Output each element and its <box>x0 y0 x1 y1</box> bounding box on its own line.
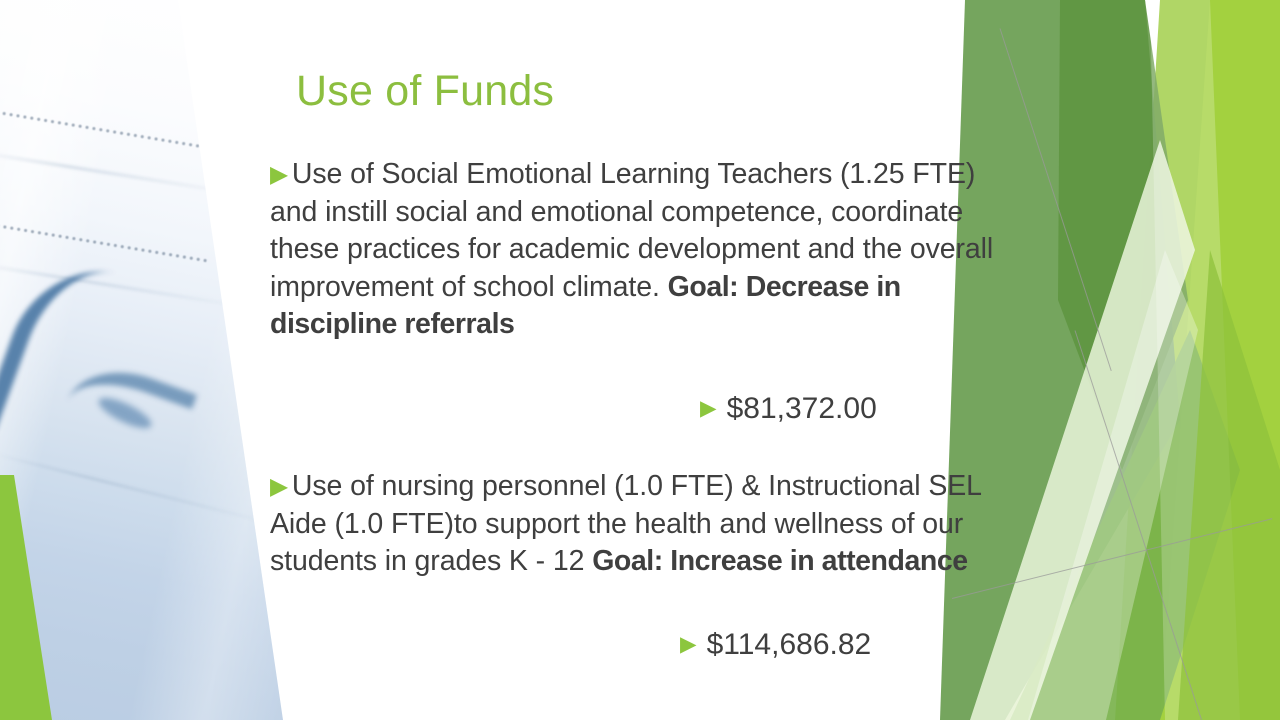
bullet-paragraph-1: ▶Use of Social Emotional Learning Teache… <box>270 156 1000 344</box>
amount-value-2: $114,686.82 <box>707 628 872 661</box>
page-title: Use of Funds <box>296 68 554 115</box>
bullet-marker-icon: ▶ <box>270 475 288 498</box>
bullet-marker-icon: ▶ <box>270 163 288 186</box>
bullet-goal-2: Goal: Increase in attendance <box>592 545 967 577</box>
slide-content: Use of Funds ▶Use of Social Emotional Le… <box>0 0 1280 720</box>
amount-marker-icon: ▶ <box>680 633 697 655</box>
bullet-paragraph-2: ▶Use of nursing personnel (1.0 FTE) & In… <box>270 468 1000 581</box>
amount-line-1: ▶$81,372.00 <box>700 390 877 428</box>
presentation-slide: Use of Funds ▶Use of Social Emotional Le… <box>0 0 1280 720</box>
amount-line-2: ▶$114,686.82 <box>680 626 871 664</box>
amount-value-1: $81,372.00 <box>727 392 877 425</box>
amount-marker-icon: ▶ <box>700 397 717 419</box>
